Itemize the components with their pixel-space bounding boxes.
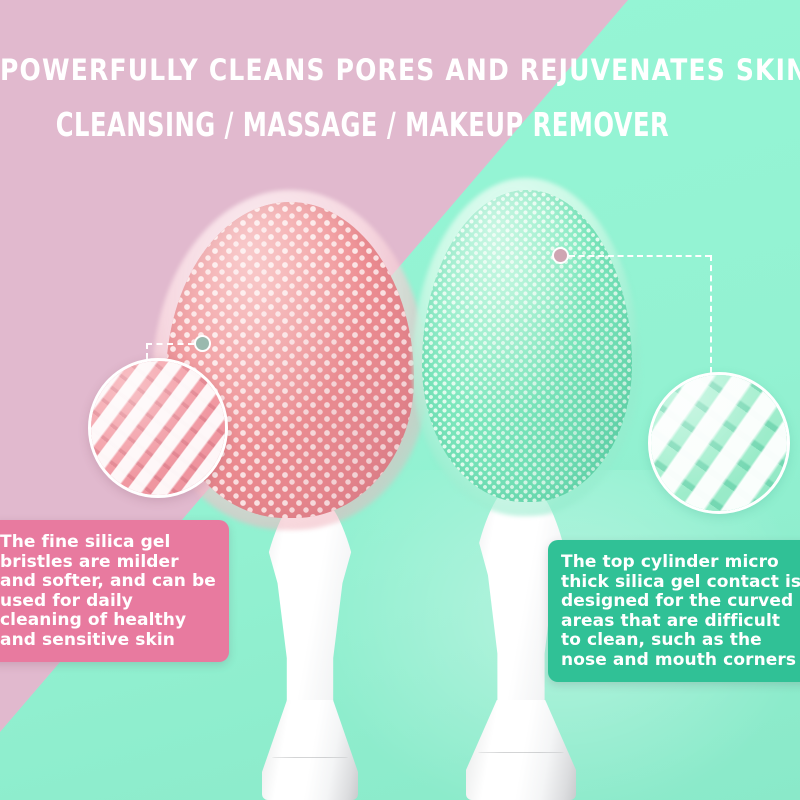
callout-left: The fine silica gel bristles are milder … xyxy=(0,520,229,662)
mint-bristle-magnifier xyxy=(648,372,790,514)
mint-bristle-field xyxy=(422,190,632,502)
callout-left-text: The fine silica gel bristles are milder … xyxy=(0,533,219,650)
product-feature-banner: POWERFULLY CLEANS PORES AND REJUVENATES … xyxy=(0,0,800,800)
callout-right-text: The top cylinder micro thick silica gel … xyxy=(561,553,800,670)
mint-brush-base xyxy=(466,700,576,800)
mint-brush-base-seam xyxy=(478,752,564,753)
mint-bristle-marker-node xyxy=(552,247,569,264)
mint-brush-head xyxy=(422,190,632,502)
mint-magnifier-gloss xyxy=(651,375,787,511)
mint-leader-line-horizontal xyxy=(569,255,711,257)
callout-right: The top cylinder micro thick silica gel … xyxy=(548,540,800,682)
mint-leader-line-vertical xyxy=(710,255,712,373)
